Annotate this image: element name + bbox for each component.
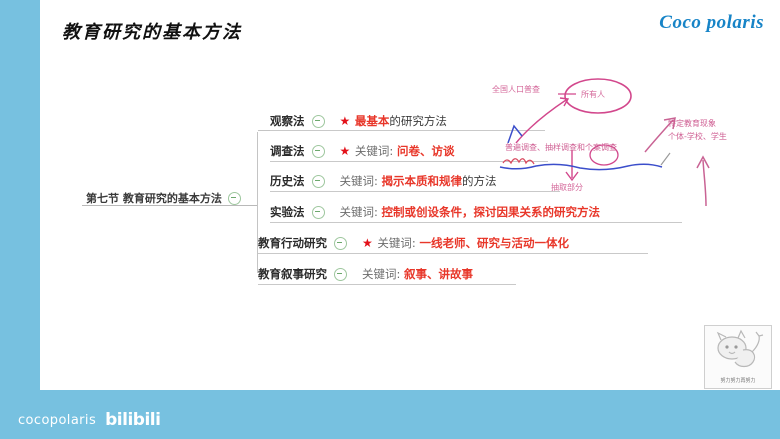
cat-illustration — [705, 326, 771, 376]
branch-highlight-4: 控制或创设条件，探讨因果关系的研究方法 — [382, 205, 601, 219]
branch-highlight-1: 最基本 — [355, 114, 390, 128]
webcam-overlay[interactable]: 努力努力再努力 — [704, 325, 772, 389]
branch-underline-5 — [258, 253, 648, 254]
branch-label-6: 教育叙事研究 — [258, 266, 327, 282]
branch-node-1[interactable]: 观察法 ★ 最基本的研究方法 — [270, 113, 447, 129]
annotation-survey-types: 普遍调查、抽样调查和个案调查 — [505, 142, 617, 153]
root-underline — [82, 205, 257, 206]
collapse-minus-icon[interactable] — [312, 206, 325, 219]
star-icon: ★ — [362, 236, 373, 250]
branch-underline-6 — [258, 284, 516, 285]
branch-node-3[interactable]: 历史法 关键词: 揭示本质和规律的方法 — [270, 173, 497, 189]
branch-underline-3 — [270, 191, 560, 192]
collapse-minus-icon[interactable] — [312, 175, 325, 188]
star-icon: ★ — [340, 144, 351, 158]
collapse-minus-icon[interactable] — [334, 268, 347, 281]
branch-prefix-4: 关键词: — [340, 205, 378, 219]
mindmap-root-label: 第七节 教育研究的基本方法 — [86, 190, 222, 206]
annotation-specific-phenomenon: 特定教育现象 — [668, 118, 716, 129]
branch-node-2[interactable]: 调查法 ★ 关键词: 问卷、访谈 — [270, 143, 454, 159]
branch-node-6[interactable]: 教育叙事研究 关键词: 叙事、讲故事 — [258, 266, 473, 282]
branch-label-1: 观察法 — [270, 113, 305, 129]
branch-node-4[interactable]: 实验法 关键词: 控制或创设条件，探讨因果关系的研究方法 — [270, 204, 600, 220]
collapse-minus-icon[interactable] — [312, 145, 325, 158]
annotation-census: 全国人口普查 — [492, 84, 540, 95]
branch-suffix-1: 的研究方法 — [389, 114, 447, 128]
branch-underline-1 — [270, 130, 545, 131]
collapse-minus-icon[interactable] — [312, 115, 325, 128]
branch-suffix-3: 的方法 — [462, 174, 497, 188]
branch-desc-3: 关键词: 揭示本质和规律的方法 — [340, 173, 497, 189]
branch-desc-1: ★ 最基本的研究方法 — [340, 113, 447, 129]
branch-highlight-6: 叙事、讲故事 — [404, 267, 473, 281]
branch-desc-6: 关键词: 叙事、讲故事 — [362, 266, 473, 282]
branch-underline-2 — [270, 161, 548, 162]
footer-channel-name: cocopolaris — [18, 413, 96, 428]
footer-platform-name: bilibili — [105, 412, 160, 428]
mindmap: 第七节 教育研究的基本方法 观察法 ★ 最基本的研究方法 调查法 ★ 关键词: … — [70, 105, 730, 305]
collapse-minus-icon[interactable] — [228, 192, 241, 205]
branch-node-5[interactable]: 教育行动研究 ★ 关键词: 一线老师、研究与活动一体化 — [258, 235, 569, 251]
branch-highlight-2: 问卷、访谈 — [397, 144, 455, 158]
collapse-minus-icon[interactable] — [334, 237, 347, 250]
branch-prefix-5: 关键词: — [377, 236, 415, 250]
branch-prefix-3: 关键词: — [340, 174, 378, 188]
branch-tick-1 — [258, 130, 270, 131]
branch-desc-5: ★ 关键词: 一线老师、研究与活动一体化 — [362, 235, 569, 251]
branch-label-4: 实验法 — [270, 204, 305, 220]
branch-highlight-3: 揭示本质和规律 — [382, 174, 463, 188]
branch-prefix-6: 关键词: — [362, 267, 400, 281]
root-connector-up — [257, 132, 258, 205]
annotation-sample-part: 抽取部分 — [551, 182, 583, 193]
webcam-caption: 努力努力再努力 — [705, 377, 771, 384]
mindmap-root-node[interactable]: 第七节 教育研究的基本方法 — [86, 190, 241, 206]
branch-underline-4 — [270, 222, 682, 223]
branch-label-3: 历史法 — [270, 173, 305, 189]
branch-label-2: 调查法 — [270, 143, 305, 159]
branch-prefix-2: 关键词: — [355, 144, 393, 158]
brand-logo: Coco polaris — [659, 12, 764, 34]
footer-branding: cocopolaris bilibili — [18, 412, 160, 428]
branch-label-5: 教育行动研究 — [258, 235, 327, 251]
branch-highlight-5: 一线老师、研究与活动一体化 — [419, 236, 569, 250]
annotation-individual-scope: 个体-学校、学生 — [668, 131, 727, 142]
annotation-everyone: 所有人 — [581, 89, 605, 100]
page-title: 教育研究的基本方法 — [62, 18, 242, 44]
left-blue-band — [0, 0, 40, 439]
slide-canvas: 教育研究的基本方法 Coco polaris 第七节 教育研究的基本方法 观察法… — [0, 0, 780, 439]
branch-desc-2: ★ 关键词: 问卷、访谈 — [340, 143, 455, 159]
star-icon: ★ — [340, 114, 351, 128]
branch-desc-4: 关键词: 控制或创设条件，探讨因果关系的研究方法 — [340, 204, 601, 220]
